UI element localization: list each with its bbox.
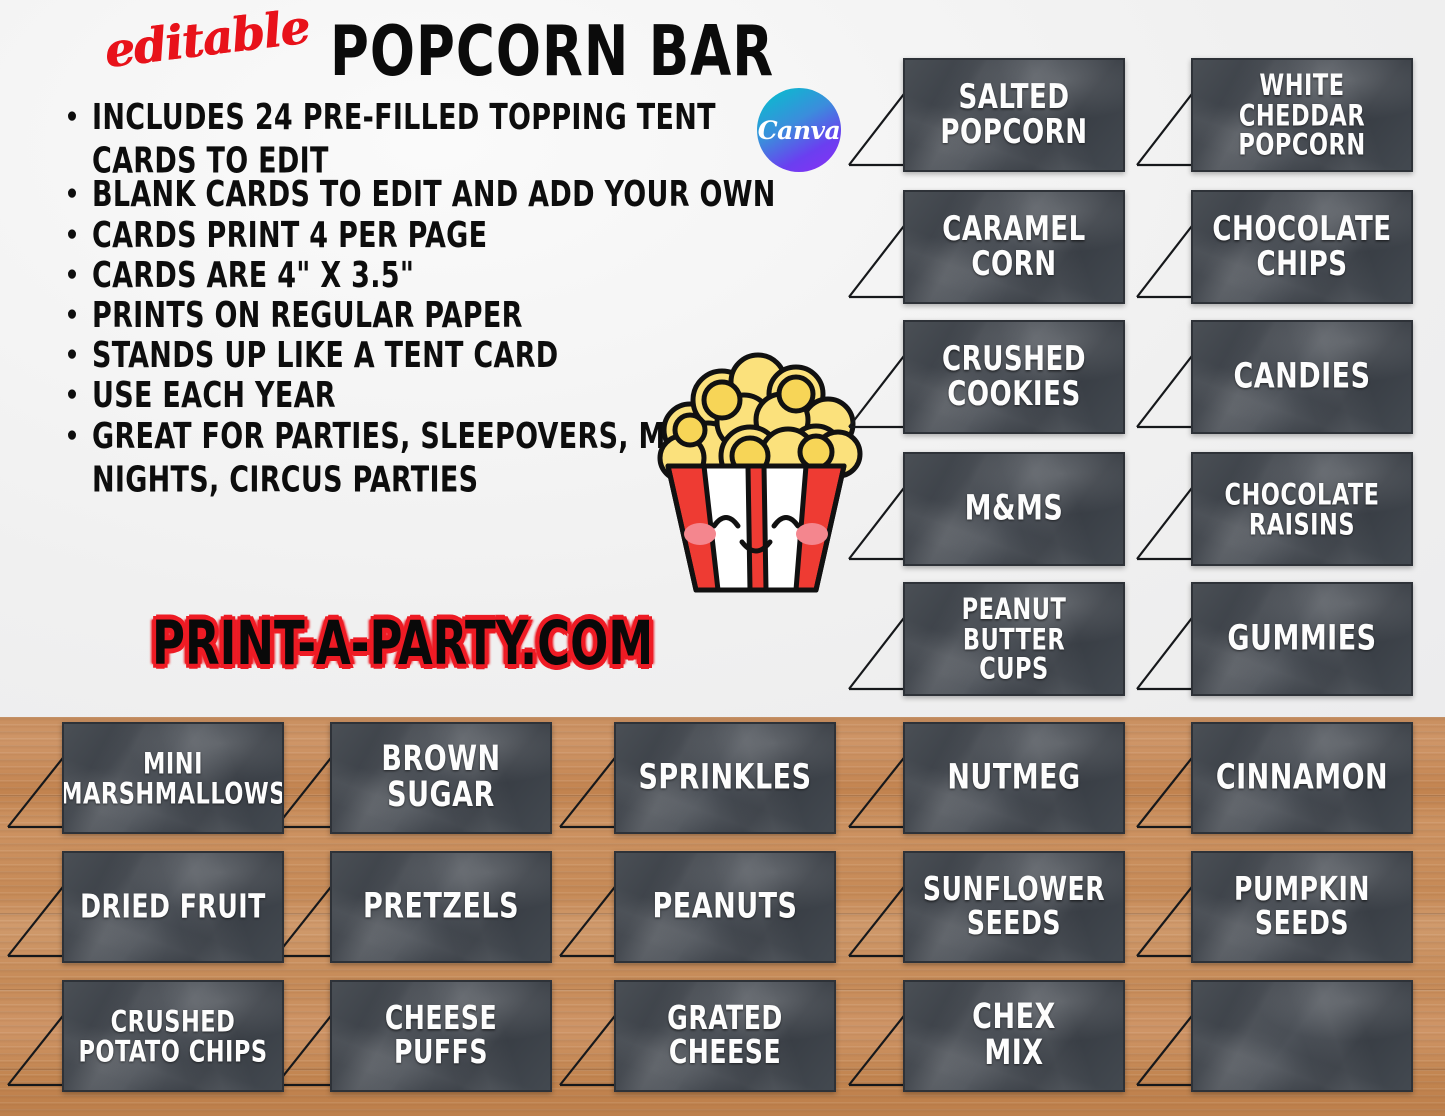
tent-card: PRETZELS [330,851,552,963]
product-listing-image: editable POPCORN BAR INCLUDES 24 PRE-FIL… [0,0,1445,1116]
tent-card-label: CHEX MIX [962,1001,1066,1072]
tent-card-label: PRETZELS [353,889,529,924]
tent-card: CHEX MIX [903,980,1125,1092]
feature-item: BLANK CARDS TO EDIT AND ADD YOUR OWN [92,173,792,217]
tent-card-label: CINNAMON [1206,760,1398,795]
tent-card: CARAMEL CORN [903,190,1125,304]
feature-item: CARDS PRINT 4 PER PAGE [92,214,792,258]
tent-card-label: PEANUTS [643,889,808,924]
tent-card-label: BROWN SUGAR [371,743,510,814]
tent-card: CHOCOLATE RAISINS [1191,452,1413,566]
feature-item: INCLUDES 24 PRE-FILLED TOPPING TENT CARD… [92,96,792,184]
tent-card: CHOCOLATE CHIPS [1191,190,1413,304]
tent-card-label: CHOCOLATE RAISINS [1214,479,1389,538]
tent-card: DRIED FRUIT [62,851,284,963]
tent-card-label: PEANUT BUTTER CUPS [905,595,1123,684]
tent-card-label: GUMMIES [1217,621,1386,656]
popcorn-mascot-icon [646,338,866,600]
tent-card [1191,980,1413,1092]
tent-card: CANDIES [1191,320,1413,434]
tent-card: NUTMEG [903,722,1125,834]
canva-logo-icon: Canva [757,88,841,172]
tent-card-label: DRIED FRUIT [70,890,276,923]
tent-card: GRATED CHEESE [614,980,836,1092]
page-title: POPCORN BAR [330,10,774,91]
tent-card: M&MS [903,452,1125,566]
tent-card-label: CANDIES [1223,359,1380,394]
feature-item: CARDS ARE 4" X 3.5" [92,254,792,298]
tent-card: PUMPKIN SEEDS [1191,851,1413,963]
tent-card-label: MINI MARSHMALLOWS [62,748,284,807]
tent-card-label: GRATED CHEESE [657,1003,793,1069]
tent-card-label: CHEESE PUFFS [375,1003,507,1069]
tent-card-label: PUMPKIN SEEDS [1224,874,1380,940]
tent-card: CRUSHED POTATO CHIPS [62,980,284,1092]
tent-card: CRUSHED COOKIES [903,320,1125,434]
feature-item: PRINTS ON REGULAR PAPER [92,294,792,338]
tent-card-label: CARAMEL CORN [932,213,1096,282]
tent-card: GUMMIES [1191,582,1413,696]
tent-card: SALTED POPCORN [903,58,1125,172]
tent-card: SUNFLOWER SEEDS [903,851,1125,963]
tent-card-label: CRUSHED COOKIES [932,343,1096,412]
tent-card: MINI MARSHMALLOWS [62,722,284,834]
tent-card: SPRINKLES [614,722,836,834]
tent-card-label: CHOCOLATE CHIPS [1202,213,1401,282]
tent-card-label: SUNFLOWER SEEDS [913,874,1115,940]
tent-card-label: SPRINKLES [628,760,821,795]
tent-card: BROWN SUGAR [330,722,552,834]
tent-card: CHEESE PUFFS [330,980,552,1092]
tent-card-label: CRUSHED POTATO CHIPS [68,1006,277,1065]
tent-card-label: NUTMEG [937,760,1090,795]
site-url: PRINT-A-PARTY.COM [152,608,653,679]
tent-card: WHITE CHEDDAR POPCORN [1191,58,1413,172]
tent-card: PEANUT BUTTER CUPS [903,582,1125,696]
tent-card-label: M&MS [955,491,1074,526]
canva-label: Canva [758,116,841,145]
tent-card: CINNAMON [1191,722,1413,834]
tent-card: PEANUTS [614,851,836,963]
tent-card-label: SALTED POPCORN [930,81,1097,150]
tent-card-label: WHITE CHEDDAR POPCORN [1193,71,1411,160]
